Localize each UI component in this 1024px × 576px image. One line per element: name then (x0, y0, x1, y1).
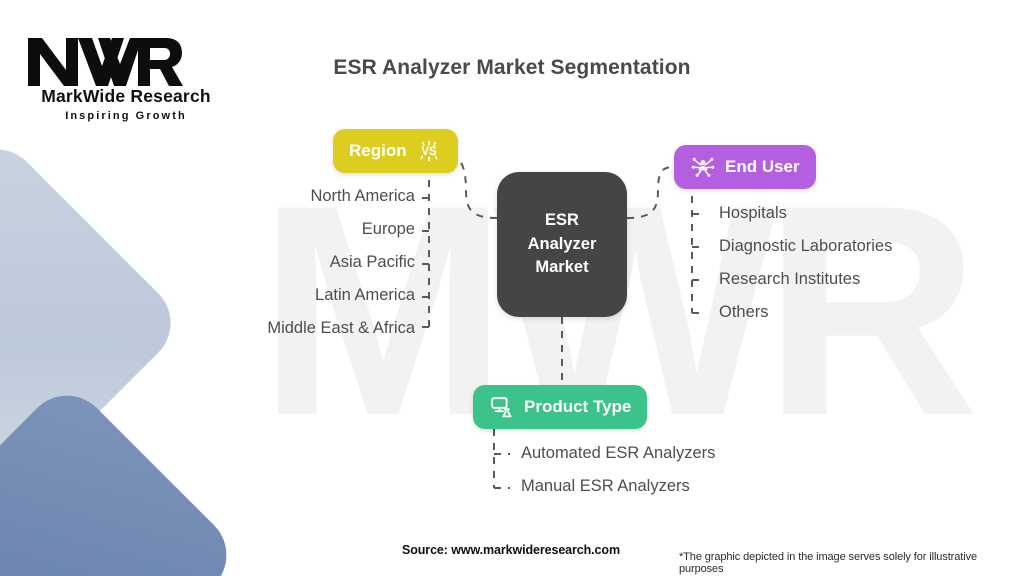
people-network-icon (690, 154, 716, 180)
list-item: Asia Pacific (110, 254, 415, 271)
list-item: Automated ESR Analyzers (521, 445, 715, 462)
svg-text:VS: VS (421, 146, 437, 158)
badge-product-type[interactable]: Product Type (473, 385, 647, 429)
monitor-flask-icon (489, 394, 515, 420)
logo-tagline: Inspiring Growth (26, 110, 226, 122)
list-item: Latin America (110, 287, 415, 304)
page-title: ESR Analyzer Market Segmentation (0, 56, 1024, 80)
decorative-square-dark (0, 378, 244, 576)
source-credit: Source: www.markwideresearch.com (402, 543, 620, 557)
logo-company-name: MarkWide Research (26, 86, 226, 107)
core-node-label: ESR Analyzer Market (528, 209, 597, 279)
badge-end-user-label: End User (725, 157, 800, 177)
badge-product-type-label: Product Type (524, 397, 631, 417)
badge-region[interactable]: Region VS (333, 129, 458, 173)
core-node: ESR Analyzer Market (497, 172, 627, 317)
badge-region-label: Region (349, 141, 407, 161)
list-item: Middle East & Africa (110, 320, 415, 337)
list-item: Diagnostic Laboratories (719, 238, 892, 255)
list-region: North America Europe Asia Pacific Latin … (110, 188, 415, 353)
list-item: Research Institutes (719, 271, 892, 288)
globe-rays-icon: VS (416, 138, 442, 164)
list-item: Others (719, 304, 892, 321)
badge-end-user[interactable]: End User (674, 145, 816, 189)
list-item: Europe (110, 221, 415, 238)
disclaimer-note: *The graphic depicted in the image serve… (679, 551, 1024, 575)
list-product-type: Automated ESR Analyzers Manual ESR Analy… (521, 445, 715, 511)
list-item: North America (110, 188, 415, 205)
list-end-user: Hospitals Diagnostic Laboratories Resear… (719, 205, 892, 337)
infographic-canvas: MWR MarkWide Research Inspiring Growth E… (0, 0, 1024, 576)
list-item: Hospitals (719, 205, 892, 222)
list-item: Manual ESR Analyzers (521, 478, 715, 495)
